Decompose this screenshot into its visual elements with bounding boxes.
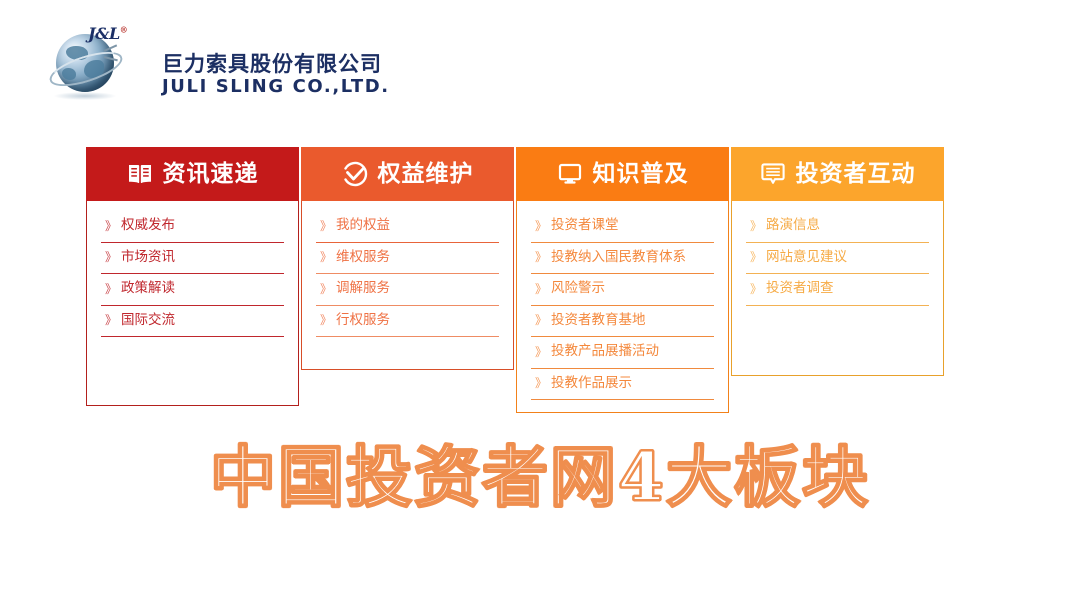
chevron-right-icon: 》: [535, 377, 546, 389]
brand-monogram-text: J&L: [88, 24, 120, 43]
card-link-list: 》我的权益 》维权服务 》调解服务 》行权服务: [302, 201, 513, 345]
card-rights-protection[interactable]: 权益维护 》我的权益 》维权服务 》调解服务 》行权服务: [301, 147, 514, 370]
list-item[interactable]: 》投教作品展示: [531, 369, 714, 401]
list-item-label: 我的权益: [336, 219, 390, 233]
check-circle-icon: [342, 161, 368, 187]
list-item[interactable]: 》投教产品展播活动: [531, 337, 714, 369]
card-header: 知识普及: [516, 147, 729, 201]
page-title: 中国投资者网4大板块: [0, 444, 1080, 510]
chevron-right-icon: 》: [320, 283, 331, 295]
list-item-label: 权威发布: [121, 219, 175, 233]
card-header: 资讯速递: [86, 147, 299, 201]
chevron-right-icon: 》: [105, 251, 116, 263]
list-item[interactable]: 》我的权益: [316, 211, 499, 243]
brand-name-cn: 巨力索具股份有限公司: [162, 48, 382, 78]
list-item-label: 投资者调查: [766, 282, 834, 296]
card-link-list: 》路演信息 》网站意见建议 》投资者调查: [732, 201, 943, 314]
card-title: 知识普及: [593, 163, 689, 186]
list-item[interactable]: 》风险警示: [531, 274, 714, 306]
chevron-right-icon: 》: [105, 314, 116, 326]
brand-name-en: JULI SLING CO.,LTD.: [162, 76, 390, 97]
chevron-right-icon: 》: [105, 220, 116, 232]
list-item[interactable]: 》投资者课堂: [531, 211, 714, 243]
list-item[interactable]: 》路演信息: [746, 211, 929, 243]
open-book-icon: [127, 161, 153, 187]
list-item-label: 政策解读: [121, 282, 175, 296]
list-item[interactable]: 》投资者教育基地: [531, 306, 714, 338]
list-item-label: 风险警示: [551, 282, 605, 296]
chevron-right-icon: 》: [105, 283, 116, 295]
chevron-right-icon: 》: [320, 251, 331, 263]
brand-monogram: J&L®: [88, 24, 127, 43]
list-item-label: 维权服务: [336, 251, 390, 265]
card-header: 投资者互动: [731, 147, 944, 201]
card-knowledge-popularization[interactable]: 知识普及 》投资者课堂 》投教纳入国民教育体系 》风险警示 》投资者教育基地 》…: [516, 147, 729, 413]
list-item-label: 投教纳入国民教育体系: [551, 251, 686, 265]
company-logo: J&L® 巨力索具股份有限公司 JULI SLING CO.,LTD.: [44, 22, 304, 106]
list-item-label: 市场资讯: [121, 251, 175, 265]
chevron-right-icon: 》: [750, 220, 761, 232]
speech-bubble-icon: [760, 161, 786, 187]
list-item-label: 路演信息: [766, 219, 820, 233]
chevron-right-icon: 》: [535, 346, 546, 358]
chevron-right-icon: 》: [750, 283, 761, 295]
list-item[interactable]: 》维权服务: [316, 243, 499, 275]
list-item-label: 行权服务: [336, 314, 390, 328]
chevron-right-icon: 》: [535, 220, 546, 232]
list-item[interactable]: 》投资者调查: [746, 274, 929, 306]
card-news-express[interactable]: 资讯速递 》权威发布 》市场资讯 》政策解读 》国际交流: [86, 147, 299, 406]
logo-shadow: [54, 92, 116, 100]
chevron-right-icon: 》: [320, 220, 331, 232]
list-item[interactable]: 》投教纳入国民教育体系: [531, 243, 714, 275]
list-item[interactable]: 》网站意见建议: [746, 243, 929, 275]
chevron-right-icon: 》: [320, 314, 331, 326]
card-title: 资讯速递: [163, 163, 259, 186]
card-link-list: 》投资者课堂 》投教纳入国民教育体系 》风险警示 》投资者教育基地 》投教产品展…: [517, 201, 728, 408]
card-investor-interaction[interactable]: 投资者互动 》路演信息 》网站意见建议 》投资者调查: [731, 147, 944, 376]
card-link-list: 》权威发布 》市场资讯 》政策解读 》国际交流: [87, 201, 298, 345]
list-item[interactable]: 》调解服务: [316, 274, 499, 306]
chevron-right-icon: 》: [750, 251, 761, 263]
list-item-label: 国际交流: [121, 314, 175, 328]
list-item[interactable]: 》行权服务: [316, 306, 499, 338]
list-item-label: 投教作品展示: [551, 377, 632, 391]
chevron-right-icon: 》: [535, 314, 546, 326]
list-item-label: 调解服务: [336, 282, 390, 296]
list-item-label: 投资者课堂: [551, 219, 619, 233]
registered-trademark-icon: ®: [120, 25, 128, 35]
list-item[interactable]: 》市场资讯: [101, 243, 284, 275]
chevron-right-icon: 》: [535, 283, 546, 295]
list-item[interactable]: 》国际交流: [101, 306, 284, 338]
monitor-icon: [557, 161, 583, 187]
card-title: 权益维护: [378, 163, 474, 186]
card-title: 投资者互动: [796, 163, 916, 186]
list-item-label: 网站意见建议: [766, 251, 847, 265]
list-item-label: 投资者教育基地: [551, 314, 646, 328]
chevron-right-icon: 》: [535, 251, 546, 263]
list-item[interactable]: 》权威发布: [101, 211, 284, 243]
list-item[interactable]: 》政策解读: [101, 274, 284, 306]
card-header: 权益维护: [301, 147, 514, 201]
sling-hook: [104, 48, 124, 60]
list-item-label: 投教产品展播活动: [551, 345, 659, 359]
